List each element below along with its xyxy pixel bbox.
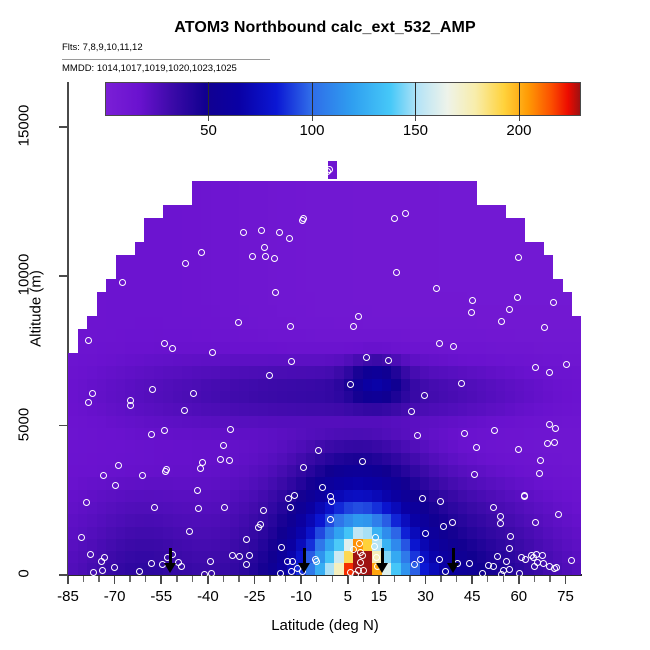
heatmap-cell [572,538,582,551]
sample-marker [449,519,456,526]
sample-marker [319,484,326,491]
sample-marker [347,569,354,576]
x-axis-title: Latitude (deg N) [0,617,650,634]
x-axis-minor-tick [145,576,146,582]
sample-marker [197,465,204,472]
x-axis-minor-tick [332,576,333,582]
sample-marker [433,285,440,292]
sample-marker [278,544,285,551]
x-axis-tick [254,576,256,584]
sample-marker [194,487,201,494]
sample-marker [261,244,268,251]
heatmap-cell [543,255,553,268]
mmdd-label: MMDD: 1014,1017,1019,1020,1023,1025 [62,63,237,74]
x-axis-minor-tick [549,576,550,582]
sample-marker [227,426,234,433]
x-axis-minor-tick [285,576,286,582]
sample-marker [276,229,283,236]
sample-marker [85,337,92,344]
x-axis-minor-tick [316,576,317,582]
sample-marker [101,554,108,561]
sample-marker [357,559,364,566]
x-axis-minor-tick [363,576,364,582]
y-axis-tick-label: 0 [16,539,33,609]
sample-marker [563,361,570,368]
sample-marker [266,372,273,379]
sample-marker [190,390,197,397]
sample-marker [327,516,334,523]
sample-marker [182,260,189,267]
sample-marker [485,562,492,569]
sample-marker [83,499,90,506]
x-axis-minor-tick [269,576,270,582]
x-axis-tick [207,576,209,584]
sample-marker [468,309,475,316]
sample-marker [552,425,559,432]
sample-marker [136,568,143,575]
x-axis-minor-tick [98,576,99,582]
heatmap-cell [496,205,506,218]
sample-marker [359,458,366,465]
sample-marker [490,504,497,511]
sample-marker [522,556,529,563]
sample-marker [115,462,122,469]
x-axis-minor-tick [409,576,410,582]
x-axis-minor-tick [534,576,535,582]
x-axis-tick [518,576,520,584]
sample-marker [532,519,539,526]
y-axis-tick-label: 15000 [16,90,33,160]
sample-marker [469,297,476,304]
sample-marker [491,427,498,434]
x-axis-minor-tick [83,576,84,582]
sample-marker [436,340,443,347]
x-axis-minor-tick [440,576,441,582]
heatmap-cell [467,193,477,206]
sample-marker [355,313,362,320]
sample-marker [181,407,188,414]
page-title: ATOM3 Northbound calc_ext_532_AMP [0,19,650,37]
heatmap-cell [572,526,582,539]
sample-marker [417,556,424,563]
x-axis-minor-tick [487,576,488,582]
heatmap-cell [467,181,477,194]
sample-marker [440,523,447,530]
x-axis-minor-tick [394,576,395,582]
sample-marker [328,498,335,505]
sample-marker [506,545,513,552]
flights-label: Flts: 7,8,9,10,11,12 [62,42,143,53]
sample-marker [473,444,480,451]
sample-marker [551,439,558,446]
heatmap-cell [572,513,582,526]
sample-marker [372,534,379,541]
sample-marker [312,556,319,563]
heatmap-cell [543,267,553,280]
header-divider [62,59,270,60]
x-axis-tick [67,576,69,584]
x-axis-tick [565,576,567,584]
heatmap-field [68,82,581,575]
heatmap-cell [572,439,582,452]
x-axis-tick [160,576,162,584]
heatmap-cell [572,365,582,378]
sample-marker [149,386,156,393]
sample-marker [436,556,443,563]
x-axis-tick [425,576,427,584]
sample-marker [90,569,97,576]
sample-marker [207,558,214,565]
heatmap-cell [534,242,544,255]
sample-marker [119,279,126,286]
sample-marker [277,570,284,577]
x-axis-minor-tick [176,576,177,582]
x-axis-tick [471,576,473,584]
sample-marker [255,524,262,531]
x-axis-minor-tick [456,576,457,582]
y-axis-tick-label: 5000 [16,389,33,459]
sample-marker [466,560,473,567]
x-axis-minor-tick [129,576,130,582]
sample-marker [402,210,409,217]
sample-marker [111,564,118,571]
sample-marker [272,289,279,296]
x-axis-tick-label: 75 [535,588,595,605]
sample-marker [371,543,378,550]
sample-marker [285,495,292,502]
y-axis-tick [59,425,68,427]
sample-marker [287,323,294,330]
sample-marker [288,358,295,365]
sample-marker [422,530,429,537]
heatmap-cell [572,452,582,465]
y-axis-title: Altitude (m) [28,249,45,369]
heatmap-cell [572,402,582,415]
sample-marker [497,513,504,520]
heatmap-cell [562,292,572,305]
y-axis-tick [59,275,68,277]
sample-marker [243,561,250,568]
sample-marker [450,343,457,350]
heatmap-cell [553,279,563,292]
sample-marker [479,570,486,577]
sample-marker [458,380,465,387]
sample-marker [555,511,562,518]
x-axis-minor-tick [192,576,193,582]
sample-marker [461,430,468,437]
sample-marker [258,227,265,234]
sample-marker [326,166,333,173]
heatmap-cell [572,353,582,366]
heatmap-cell [572,489,582,502]
sample-marker [533,551,540,558]
sample-marker [373,554,380,561]
sample-marker [221,504,228,511]
sample-marker [419,495,426,502]
y-axis-tick [59,126,68,128]
heatmap-cell [572,427,582,440]
sample-marker [568,557,575,564]
x-axis-tick [347,576,349,584]
heatmap-cell [572,501,582,514]
heatmap-cell [572,415,582,428]
sample-marker [249,253,256,260]
heatmap-cell [562,304,572,317]
heatmap-cell [515,218,525,231]
sample-marker [148,431,155,438]
sample-marker [506,566,513,573]
sample-marker [161,427,168,434]
sample-marker [100,472,107,479]
sample-marker [497,520,504,527]
heatmap-cell [572,464,582,477]
x-axis-minor-tick [223,576,224,582]
sample-marker [226,457,233,464]
heatmap-cell [515,230,525,243]
x-axis-tick [114,576,116,584]
sample-marker [537,457,544,464]
x-axis-tick [300,576,302,584]
heatmap-cell [572,329,582,342]
heatmap-cell [572,563,582,575]
sample-marker [503,558,510,565]
sample-marker [287,504,294,511]
sample-marker [299,217,306,224]
sample-marker [209,349,216,356]
heatmap-cell [572,316,582,329]
heatmap-cell [572,476,582,489]
sample-marker [414,432,421,439]
sample-marker [300,464,307,471]
heatmap-cell [572,390,582,403]
sample-marker [532,364,539,371]
sample-marker [350,546,357,553]
heatmap-cell [572,378,582,391]
heatmap-cell [572,341,582,354]
x-axis-minor-tick [238,576,239,582]
sample-marker [553,564,560,571]
sample-marker [408,408,415,415]
x-axis-tick [378,576,380,584]
x-axis-minor-tick [503,576,504,582]
sample-marker [411,561,418,568]
sample-marker [494,553,501,560]
